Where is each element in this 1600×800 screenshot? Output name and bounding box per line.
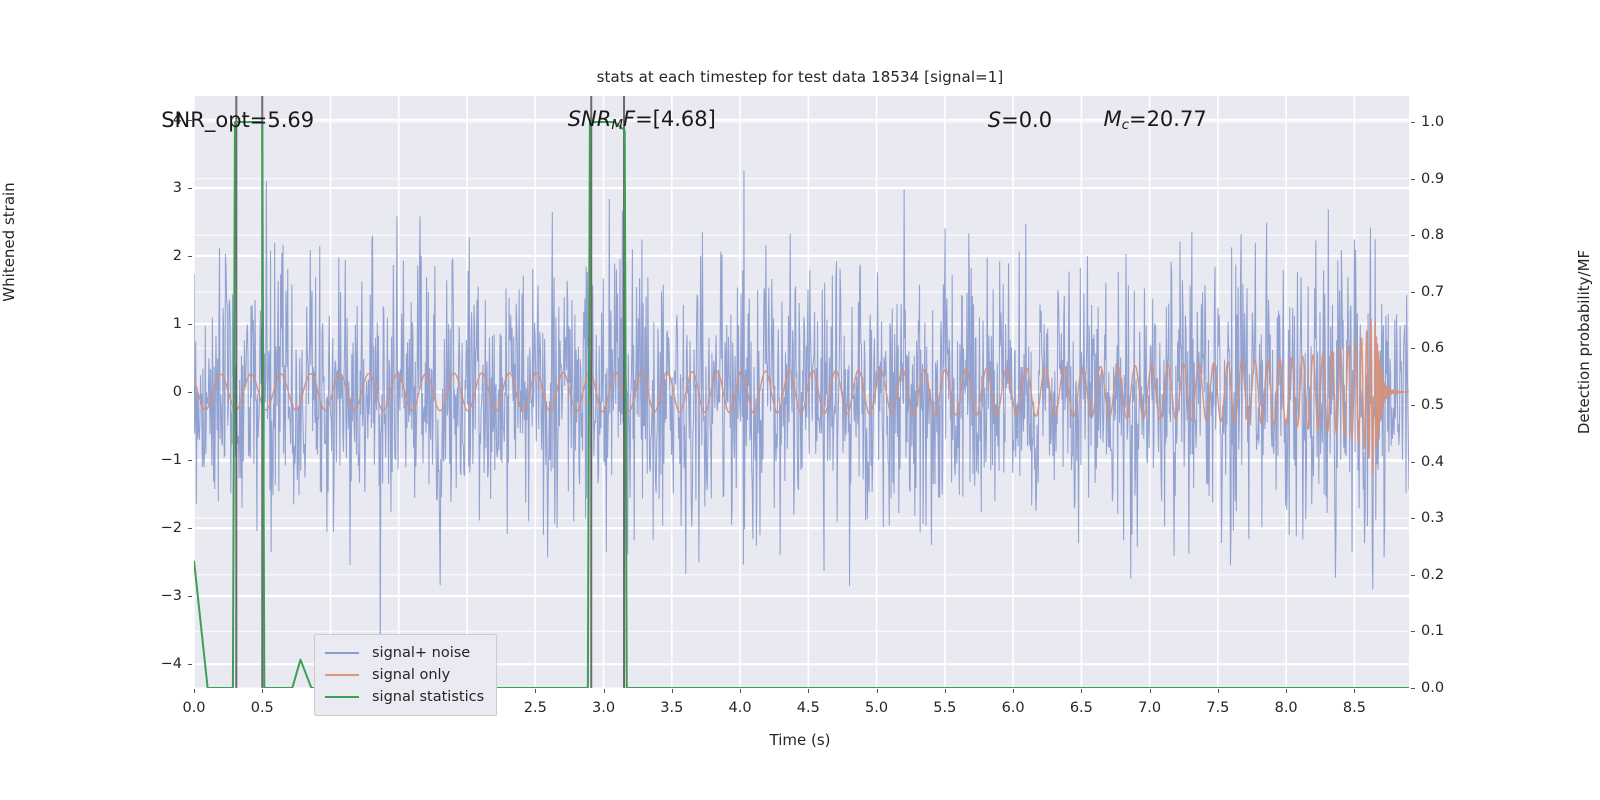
y-tick-mark-left [188,324,192,325]
y-tick-label-left-7: −3 [144,588,182,604]
x-tick-mark [194,689,195,693]
y-tick-label-right-8: 0.2 [1421,567,1444,583]
y-tick-label-right-2: 0.8 [1421,227,1444,243]
y-tick-label-left-2: 2 [144,248,182,264]
x-tick-mark [604,689,605,693]
x-tick-mark [672,689,673,693]
x-tick-label-0: 0.0 [182,700,205,716]
x-tick-mark [1013,689,1014,693]
x-tick-label-8: 4.0 [729,700,752,716]
y-tick-label-right-9: 0.1 [1421,623,1444,639]
x-tick-label-10: 5.0 [865,700,888,716]
y-tick-mark-right [1411,688,1415,689]
y-tick-label-right-3: 0.7 [1421,284,1444,300]
plot-area[interactable] [194,96,1409,688]
y-tick-label-left-8: −4 [144,656,182,672]
x-tick-label-15: 7.5 [1206,700,1229,716]
legend-label: signal only [372,667,450,683]
y-tick-label-right-0: 1.0 [1421,114,1444,130]
y-tick-mark-right [1411,405,1415,406]
legend[interactable]: signal+ noisesignal onlysignal statistic… [314,634,497,716]
legend-item-2[interactable]: signal statistics [325,686,484,708]
y-tick-mark-left [188,528,192,529]
annotation-s-stat: S=0.0 [988,108,1052,132]
y-tick-mark-left [188,392,192,393]
y-tick-mark-left [188,664,192,665]
x-tick-label-9: 4.5 [797,700,820,716]
y-tick-mark-right [1411,292,1415,293]
legend-item-1[interactable]: signal only [325,664,484,686]
y-tick-label-right-4: 0.6 [1421,340,1444,356]
x-tick-mark [535,689,536,693]
x-tick-mark [1218,689,1219,693]
legend-swatch-icon [325,652,359,654]
y-tick-label-right-1: 0.9 [1421,171,1444,187]
x-tick-mark [1286,689,1287,693]
y-tick-label-left-5: −1 [144,452,182,468]
y-tick-mark-left [188,256,192,257]
y-tick-mark-right [1411,179,1415,180]
legend-label: signal statistics [372,689,484,705]
x-tick-label-1: 0.5 [251,700,274,716]
legend-label: signal+ noise [372,645,470,661]
y-tick-mark-right [1411,575,1415,576]
x-tick-mark [945,689,946,693]
y-tick-label-right-5: 0.5 [1421,397,1444,413]
x-tick-label-14: 7.0 [1138,700,1161,716]
y-axis-label-right: Detection probability/MF [1575,132,1593,552]
x-tick-mark [1354,689,1355,693]
annotation-snr-mf: SNRMF=[4.68] [568,107,716,133]
annotation-snr-opt: SNR_opt=5.69 [161,108,314,132]
y-tick-mark-right [1411,518,1415,519]
legend-swatch-icon [325,674,359,676]
x-tick-label-7: 3.5 [660,700,683,716]
legend-item-0[interactable]: signal+ noise [325,642,484,664]
figure-canvas: stats at each timestep for test data 185… [0,0,1600,800]
annotation-chirp-mass: Mc=20.77 [1103,107,1206,133]
y-tick-mark-right [1411,462,1415,463]
y-tick-mark-right [1411,235,1415,236]
x-tick-label-5: 2.5 [524,700,547,716]
legend-swatch-icon [325,696,359,698]
x-tick-label-17: 8.5 [1343,700,1366,716]
y-tick-label-right-6: 0.4 [1421,454,1444,470]
y-tick-mark-right [1411,348,1415,349]
y-tick-label-left-1: 3 [144,180,182,196]
x-tick-label-12: 6.0 [1002,700,1025,716]
y-tick-mark-left [188,596,192,597]
x-tick-label-13: 6.5 [1070,700,1093,716]
chart-title: stats at each timestep for test data 185… [0,68,1600,86]
y-tick-mark-right [1411,122,1415,123]
x-tick-mark [740,689,741,693]
x-tick-mark [1150,689,1151,693]
x-tick-label-6: 3.0 [592,700,615,716]
x-axis-label: Time (s) [0,731,1600,749]
x-tick-label-16: 8.0 [1275,700,1298,716]
y-tick-label-left-3: 1 [144,316,182,332]
y-tick-mark-left [188,188,192,189]
x-tick-mark [1081,689,1082,693]
y-tick-label-left-4: 0 [144,384,182,400]
y-tick-label-right-10: 0.0 [1421,680,1444,696]
data-traces [194,96,1409,688]
x-tick-mark [262,689,263,693]
y-tick-mark-right [1411,631,1415,632]
y-axis-label-left: Whitened strain [0,92,18,392]
y-tick-label-left-6: −2 [144,520,182,536]
x-tick-mark [877,689,878,693]
y-tick-label-right-7: 0.3 [1421,510,1444,526]
x-tick-label-11: 5.5 [933,700,956,716]
y-tick-mark-left [188,460,192,461]
x-tick-mark [808,689,809,693]
